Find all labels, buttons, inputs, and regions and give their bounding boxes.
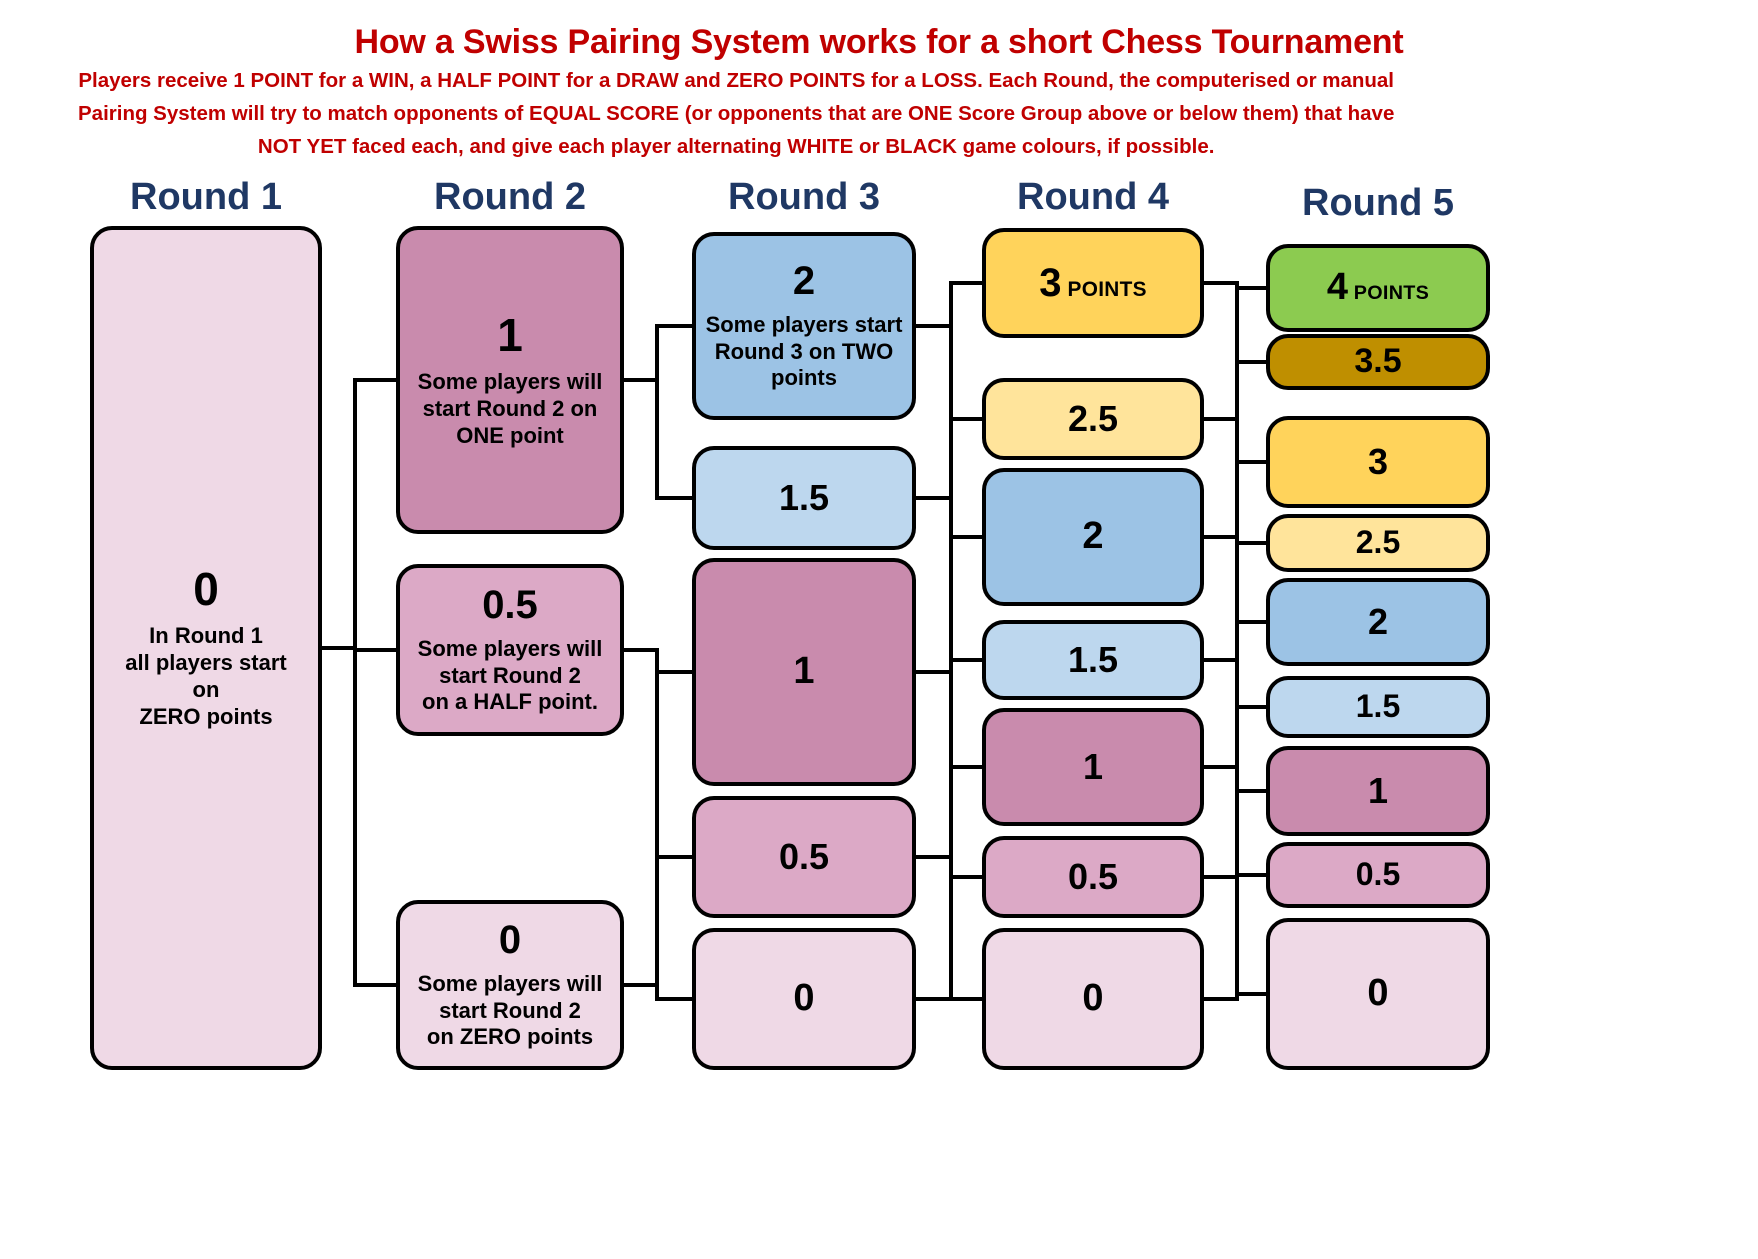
connector-c3-out-5 (1204, 875, 1239, 879)
score-value: 3 (1368, 443, 1388, 481)
connector-c1-in-0-1 (655, 496, 692, 500)
connector-c3-in-5-0 (1235, 789, 1266, 793)
score-box-r4-1[interactable]: 1 (982, 708, 1204, 826)
connector-c3-in-2-0 (1235, 460, 1266, 464)
connector-c3-bus-5 (1235, 789, 1239, 879)
score-box-r5-4[interactable]: 4 POINTS (1266, 244, 1490, 332)
connector-c2-out-3 (916, 855, 953, 859)
connector-c2-out-1 (916, 496, 953, 500)
score-value: 0.5 (779, 838, 829, 876)
score-box-r5-2p5[interactable]: 2.5 (1266, 514, 1490, 572)
round-label-3: Round 3 (664, 176, 944, 219)
score-value: 2 (1082, 517, 1103, 557)
connector-r1-branch-1 (353, 648, 396, 652)
score-box-r2-0[interactable]: 0Some players willstart Round 2on ZERO p… (396, 900, 624, 1070)
connector-c3-out-3 (1204, 658, 1239, 662)
page-subtitle: Players receive 1 POINT for a WIN, a HAL… (0, 64, 1472, 163)
connector-c2-in-4-1 (949, 997, 982, 1001)
score-box-r3-2[interactable]: 2Some players startRound 3 on TWOpoints (692, 232, 916, 420)
connector-c3-in-6-1 (1235, 992, 1266, 996)
connector-c3-in-2-1 (1235, 541, 1266, 545)
score-description: Some players willstart Round 2 onONE poi… (418, 369, 603, 449)
connector-c3-bus-4 (1235, 705, 1239, 793)
connector-c2-bus-3 (949, 765, 953, 879)
connector-c3-bus-6 (1235, 873, 1239, 1001)
score-box-r4-0p5[interactable]: 0.5 (982, 836, 1204, 918)
score-box-r5-3p5[interactable]: 3.5 (1266, 334, 1490, 390)
score-value: 2 (793, 260, 815, 302)
score-value: 1.5 (1356, 690, 1400, 724)
connector-c2-in-4-0 (949, 875, 982, 879)
connector-c3-bus-3 (1235, 620, 1239, 709)
score-value: 0.5 (1068, 858, 1118, 896)
connector-c3-bus-1 (1235, 360, 1239, 464)
score-box-r3-0[interactable]: 0 (692, 928, 916, 1070)
connector-c2-bus-2 (949, 535, 953, 769)
score-value: 1.5 (779, 479, 829, 517)
score-value: 0.5 (1356, 858, 1400, 892)
connector-c1-bus-1 (655, 648, 659, 859)
score-box-r5-1p5[interactable]: 1.5 (1266, 676, 1490, 738)
score-value: 2 (1368, 603, 1388, 641)
score-box-r4-3[interactable]: 3 POINTS (982, 228, 1204, 338)
connector-c2-out-4 (916, 997, 953, 1001)
connector-c3-out-6 (1204, 997, 1239, 1001)
score-description: Some players willstart Round 2on ZERO po… (418, 971, 603, 1051)
score-value: 2.5 (1356, 526, 1400, 560)
connector-c2-in-3-0 (949, 765, 982, 769)
points-suffix: POINTS (1061, 278, 1146, 301)
connector-c1-in-1-0 (655, 670, 692, 674)
connector-r1-branch-2 (353, 983, 396, 987)
score-value: 1.5 (1068, 641, 1118, 679)
connector-c3-out-1 (1204, 417, 1239, 421)
connector-c2-in-0-0 (949, 281, 982, 285)
score-value: 0 (1367, 974, 1388, 1014)
score-box-r1-0[interactable]: 0In Round 1all players startonZERO point… (90, 226, 322, 1070)
subtitle-line-3: NOT YET faced each, and give each player… (78, 130, 1394, 163)
page-title: How a Swiss Pairing System works for a s… (0, 22, 1758, 62)
connector-c1-in-0-0 (655, 324, 692, 328)
connector-c2-in-2-1 (949, 658, 982, 662)
score-box-r5-1[interactable]: 1 (1266, 746, 1490, 836)
points-suffix: POINTS (1348, 282, 1429, 304)
score-value: 4 POINTS (1327, 268, 1429, 308)
connector-c2-out-0 (916, 324, 953, 328)
score-value: 3.5 (1354, 344, 1401, 380)
connector-c1-in-2-0 (655, 855, 692, 859)
score-box-r2-0p5[interactable]: 0.5Some players willstart Round 2on a HA… (396, 564, 624, 736)
connector-r1-bus (353, 378, 357, 987)
score-value: 1 (497, 311, 523, 359)
score-box-r4-0[interactable]: 0 (982, 928, 1204, 1070)
score-description: Some players startRound 3 on TWOpoints (706, 312, 903, 392)
connector-c2-bus-4 (949, 875, 953, 1001)
subtitle-line-1: Players receive 1 POINT for a WIN, a HAL… (78, 64, 1394, 97)
round-label-2: Round 2 (370, 176, 650, 219)
connector-c3-out-0 (1204, 281, 1239, 285)
score-box-r3-1p5[interactable]: 1.5 (692, 446, 916, 550)
score-box-r5-2[interactable]: 2 (1266, 578, 1490, 666)
connector-c2-bus-0 (949, 281, 953, 421)
connector-c2-in-1-0 (949, 417, 982, 421)
score-description: Some players willstart Round 2on a HALF … (418, 636, 603, 716)
connector-c3-in-3-0 (1235, 620, 1266, 624)
score-value: 1 (1368, 772, 1388, 810)
round-label-5: Round 5 (1238, 182, 1518, 225)
connector-c1-out-1 (624, 648, 659, 652)
score-value: 0 (1082, 979, 1103, 1019)
score-value: 0.5 (482, 584, 538, 626)
score-value: 1 (793, 652, 814, 692)
connector-r1-trunk (322, 646, 357, 650)
round-label-4: Round 4 (953, 176, 1233, 219)
connector-c2-out-2 (916, 670, 953, 674)
score-value: 2.5 (1068, 400, 1118, 438)
score-box-r4-2p5[interactable]: 2.5 (982, 378, 1204, 460)
score-value: 1 (1083, 748, 1103, 786)
round-label-1: Round 1 (66, 176, 346, 219)
connector-c3-in-6-0 (1235, 873, 1266, 877)
connector-c3-out-2 (1204, 535, 1239, 539)
connector-r1-branch-0 (353, 378, 396, 382)
connector-c2-in-2-0 (949, 535, 982, 539)
score-box-r2-1[interactable]: 1Some players willstart Round 2 onONE po… (396, 226, 624, 534)
score-description: In Round 1all players startonZERO points (125, 623, 286, 730)
score-box-r4-2[interactable]: 2 (982, 468, 1204, 606)
score-box-r5-0p5[interactable]: 0.5 (1266, 842, 1490, 908)
score-value: 0 (793, 979, 814, 1019)
connector-c3-in-4-0 (1235, 705, 1266, 709)
score-box-r5-3[interactable]: 3 (1266, 416, 1490, 508)
score-value: 3 POINTS (1039, 262, 1147, 304)
score-value: 0 (193, 565, 219, 613)
connector-c3-out-4 (1204, 765, 1239, 769)
connector-c1-in-2-1 (655, 997, 692, 1001)
connector-c2-bus-1 (949, 417, 953, 539)
connector-c3-bus-0 (1235, 281, 1239, 364)
connector-c1-out-0 (624, 378, 659, 382)
connector-c3-in-1-0 (1235, 360, 1266, 364)
connector-c1-out-2 (624, 983, 659, 987)
score-value: 0 (499, 919, 521, 961)
score-box-r3-1[interactable]: 1 (692, 558, 916, 786)
score-box-r3-0p5[interactable]: 0.5 (692, 796, 916, 918)
connector-c3-in-0-0 (1235, 286, 1266, 290)
connector-c1-bus-2 (655, 855, 659, 1001)
score-box-r4-1p5[interactable]: 1.5 (982, 620, 1204, 700)
connector-c1-bus-0 (655, 324, 659, 500)
score-box-r5-0[interactable]: 0 (1266, 918, 1490, 1070)
subtitle-line-2: Pairing System will try to match opponen… (78, 97, 1394, 130)
